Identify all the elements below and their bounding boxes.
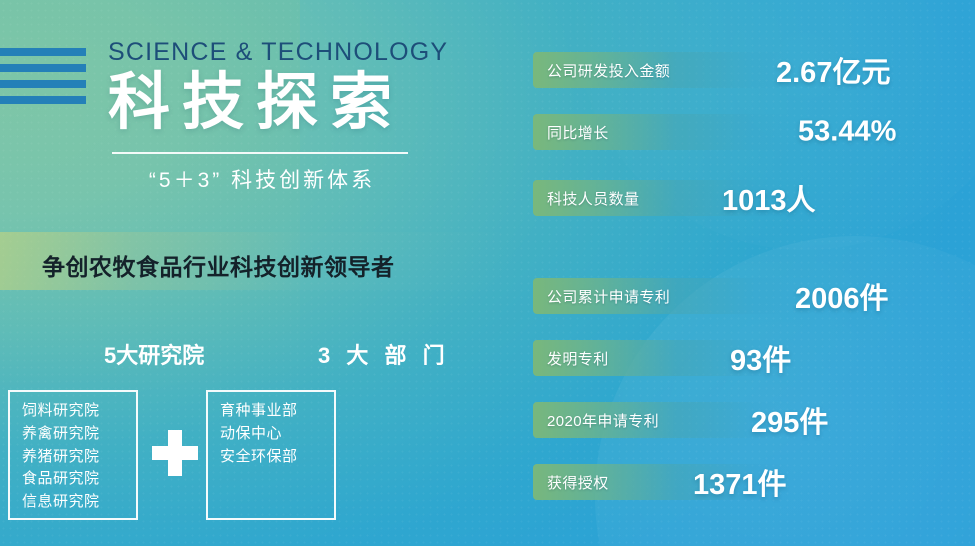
page-title: 科技探索 [108,64,404,142]
metric-row: 同比增长53.44% [533,114,975,150]
header-bar [0,96,86,104]
metric-value: 2006件 [795,275,889,317]
metric-row: 公司研发投入金额2.67亿元 [533,52,975,88]
metric-value: 1013人 [722,177,816,219]
metric-label: 同比增长 [547,122,609,143]
institutes-heading: 5大研究院 [104,338,204,370]
header-subtitle: “5＋3” 科技创新体系 [112,164,412,194]
list-item: 养禽研究院 [22,423,124,446]
metric-pill: 公司研发投入金额 [533,52,793,88]
metric-label: 公司累计申请专利 [547,286,670,307]
list-item: 养猪研究院 [22,446,124,469]
list-item: 食品研究院 [22,468,124,491]
header-bar [0,48,86,56]
metric-row: 发明专利93件 [533,340,975,376]
departments-heading: 3 大 部 门 [318,338,450,370]
list-item: 安全环保部 [220,446,322,469]
slide-canvas: SCIENCE & TECHNOLOGY 科技探索 “5＋3” 科技创新体系 争… [0,0,975,546]
institutes-box: 饲料研究院 养禽研究院 养猪研究院 食品研究院 信息研究院 [8,390,138,520]
metric-value: 1371件 [693,461,787,503]
metric-label: 2020年申请专利 [547,410,659,431]
list-item: 动保中心 [220,423,322,446]
metric-row: 2020年申请专利295件 [533,402,975,438]
metric-pill: 公司累计申请专利 [533,278,793,314]
header-eyebrow: SCIENCE & TECHNOLOGY [108,38,448,67]
metric-row: 公司累计申请专利2006件 [533,278,975,314]
metric-row: 科技人员数量1013人 [533,180,975,216]
header-bars-decoration [0,48,86,112]
metric-label: 发明专利 [547,348,609,369]
metric-value: 295件 [751,399,828,441]
metric-pill: 同比增长 [533,114,793,150]
metric-label: 科技人员数量 [547,188,639,209]
metric-value: 93件 [730,337,791,379]
list-item: 饲料研究院 [22,400,124,423]
departments-box: 育种事业部 动保中心 安全环保部 [206,390,336,520]
header-bar [0,80,86,88]
metric-value: 2.67亿元 [776,49,890,91]
metric-value: 53.44% [798,116,896,149]
list-item: 育种事业部 [220,400,322,423]
header-bar [0,64,86,72]
metric-label: 获得授权 [547,472,609,493]
title-divider [112,152,408,154]
metric-row: 获得授权1371件 [533,464,975,500]
metric-label: 公司研发投入金额 [547,60,670,81]
list-item: 信息研究院 [22,491,124,514]
slogan-text: 争创农牧食品行业科技创新领导者 [42,248,395,282]
plus-icon [152,430,198,476]
